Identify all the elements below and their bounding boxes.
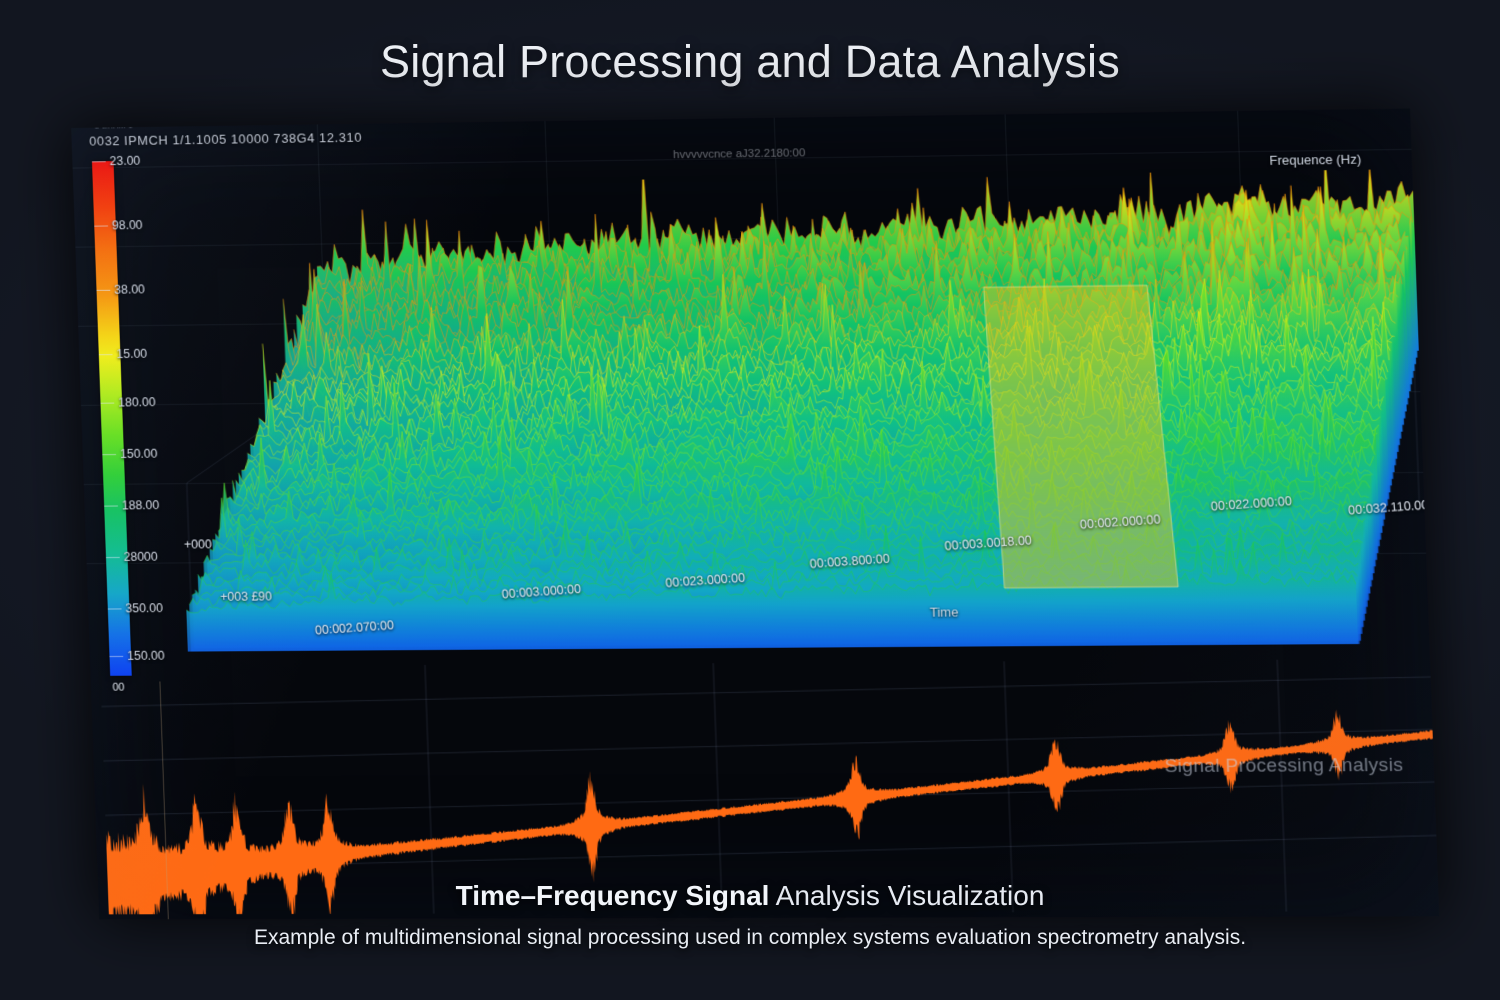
colorbar-label: 150.00 [127, 649, 165, 663]
colorbar-tick [106, 557, 120, 558]
time-tick-labels: 00:002.070:0000:003.000:0000:023.000:000… [71, 108, 1410, 128]
colorbar-label: 150.00 [120, 447, 158, 461]
top-center-label: hvvvvvcnce aJ32.2180:00 [673, 147, 806, 161]
colorbar-tick [92, 161, 106, 162]
colorbar-tick [94, 225, 108, 226]
panel-subheader: 3 EXAM 1 [94, 121, 133, 130]
secondary-origin-label: +003 £90 [220, 590, 272, 604]
waveform-svg [100, 659, 1439, 915]
colorbar-tick [97, 290, 111, 291]
colorbar-tick [109, 656, 123, 657]
origin-label: +000 [184, 537, 212, 551]
colorbar-label: 98.00 [112, 218, 143, 232]
waveform-oscillogram [100, 659, 1439, 915]
colorbar-label: 15.00 [116, 347, 147, 361]
colorbar-tick [108, 608, 122, 609]
watermark-label: Signal Processing Analysis [1164, 755, 1403, 778]
figure-caption: Time–Frequency Signal Analysis Visualiza… [0, 880, 1500, 912]
colorbar-tick [102, 454, 116, 455]
colorbar-label: 23.00 [109, 154, 140, 168]
time-axis-label: Time [930, 604, 959, 619]
visualization-root: Signal Processing and Data Analysis 3 EX… [0, 0, 1500, 1000]
spectrogram-surface [166, 169, 1429, 652]
colorbar-label: 38.00 [114, 282, 145, 296]
colorbar-tick [99, 354, 113, 355]
chart-panel: 3 EXAM 1 0032 IPMCH 1/1.1005 10000 738G4… [71, 108, 1439, 919]
colorbar-tick [104, 506, 118, 507]
frequency-axis-label: Frequence (Hz) [1269, 152, 1361, 168]
colorbar-label: 188.00 [122, 498, 160, 512]
colorbar-tick [101, 403, 115, 404]
tilted-panel-wrapper: 3 EXAM 1 0032 IPMCH 1/1.1005 10000 738G4… [0, 0, 1500, 1000]
colorbar-label: 180.00 [118, 395, 156, 409]
colorbar-label: 28000 [123, 550, 158, 564]
surface-mesh [171, 169, 1430, 652]
magnitude-colorbar [92, 161, 132, 676]
figure-subcaption: Example of multidimensional signal proce… [0, 926, 1500, 950]
caption-bold: Time–Frequency Signal [456, 880, 770, 911]
caption-light: Analysis Visualization [769, 880, 1044, 911]
surface-svg [166, 169, 1429, 652]
colorbar-label: 350.00 [125, 601, 163, 615]
panel-header: 0032 IPMCH 1/1.1005 10000 738G4 12.310 [89, 130, 362, 149]
